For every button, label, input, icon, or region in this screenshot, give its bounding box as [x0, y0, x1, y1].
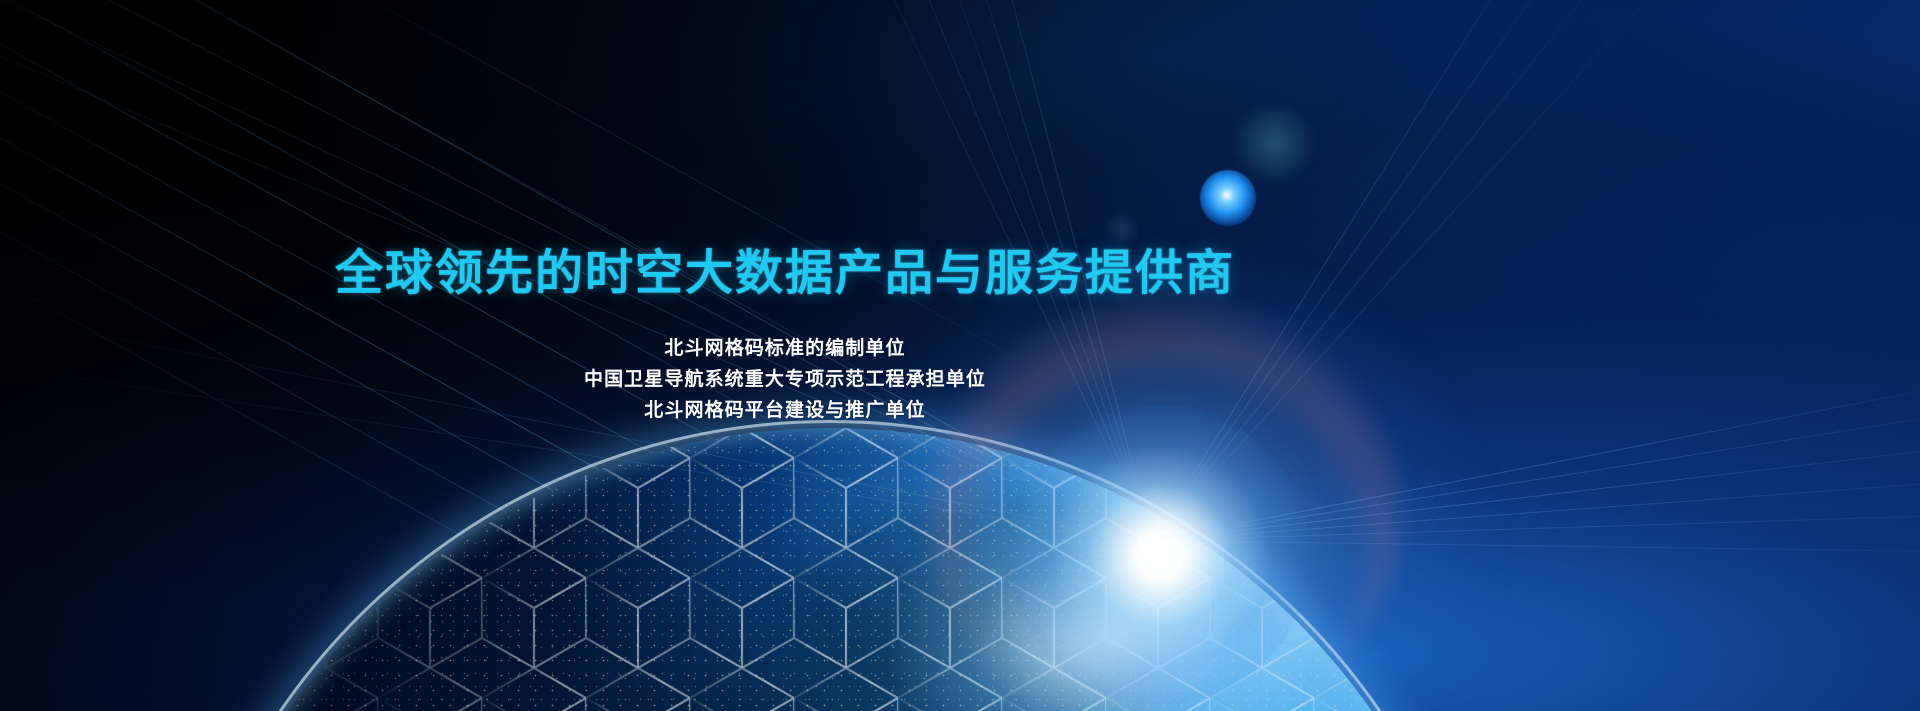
subtitle-line-2: 中国卫星导航系统重大专项示范工程承担单位: [0, 364, 1570, 395]
subtitle-list: 北斗网格码标准的编制单位 中国卫星导航系统重大专项示范工程承担单位 北斗网格码平…: [0, 333, 1570, 426]
page-title: 全球领先的时空大数据产品与服务提供商: [0, 248, 1570, 301]
subtitle-line-3: 北斗网格码平台建设与推广单位: [0, 395, 1570, 426]
lens-flare-orb-faint: [1105, 212, 1139, 246]
sun-glow-graphic: [1010, 405, 1310, 705]
lens-flare-orb-teal: [1236, 108, 1312, 178]
lens-flare-orb: [1200, 170, 1256, 226]
banner-text-block: 全球领先的时空大数据产品与服务提供商 北斗网格码标准的编制单位 中国卫星导航系统…: [0, 248, 1570, 426]
subtitle-line-1: 北斗网格码标准的编制单位: [0, 333, 1570, 364]
hero-banner: 全球领先的时空大数据产品与服务提供商 北斗网格码标准的编制单位 中国卫星导航系统…: [0, 0, 1920, 711]
